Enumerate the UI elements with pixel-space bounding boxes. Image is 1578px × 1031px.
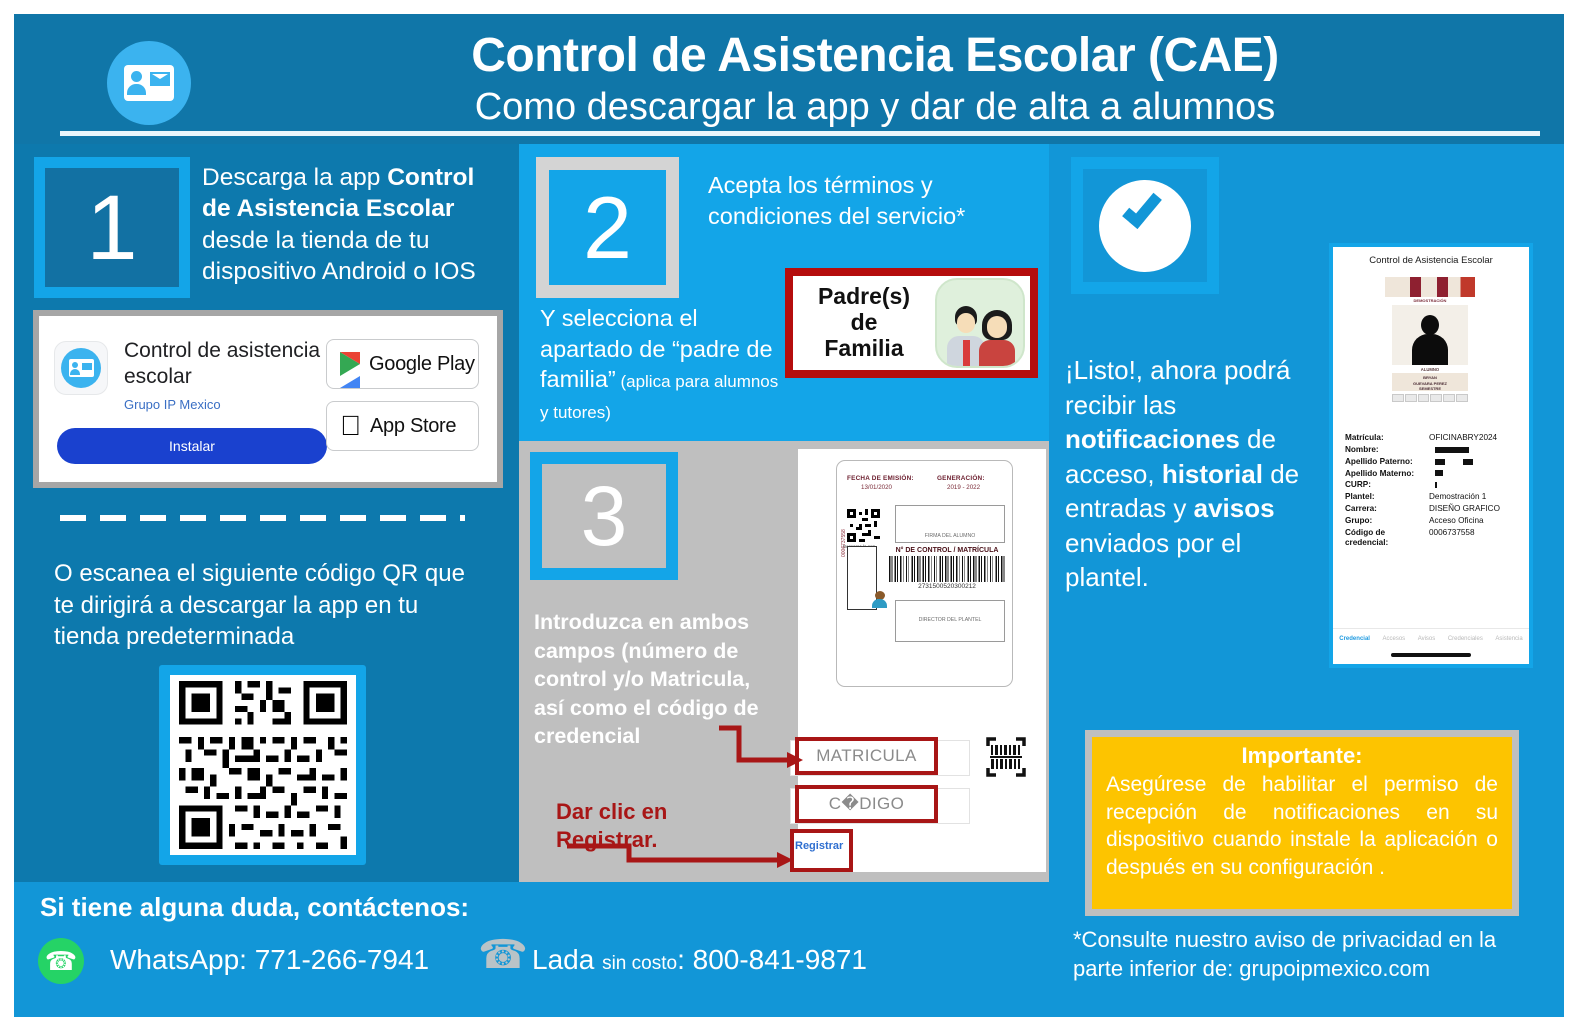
credential-row-value: Acceso Oficina — [1429, 516, 1525, 526]
credential-row-key: Nombre: — [1345, 445, 1429, 455]
credential-row: Carrera:DISEÑO GRAFICO — [1345, 504, 1525, 514]
app-name: Control de asistencia escolar — [124, 338, 324, 391]
credential-row: Grupo:Acceso Oficina — [1345, 516, 1525, 526]
id-barcode — [889, 556, 1005, 582]
credential-tab-accesos[interactable]: Accesos — [1382, 636, 1405, 642]
step-1-number: 1 — [86, 182, 137, 274]
credential-row-key: Apellido Materno: — [1345, 469, 1429, 479]
credential-row-key: CURP: — [1345, 480, 1429, 490]
qr-code-frame — [159, 665, 366, 865]
parents-avatar-icon — [935, 278, 1025, 368]
step-1-text-a: Descarga la app — [202, 164, 387, 191]
google-play-button[interactable]: Google Play — [326, 339, 479, 389]
id-generacion-label: GENERACIÓN: — [937, 475, 985, 482]
padre-de-familia-label: Padre(s) de Familia — [793, 284, 935, 361]
phone-icon: ☎ — [478, 935, 528, 975]
credential-screen-mock: Control de Asistencia Escolar DEMOSTRACI… — [1329, 243, 1533, 668]
privacy-note: *Consulte nuestro aviso de privacidad en… — [1073, 925, 1533, 983]
padre-line-2: de — [793, 310, 935, 336]
install-button[interactable]: Instalar — [57, 428, 327, 464]
id-card-mail-icon — [107, 41, 191, 125]
credential-row-value: OFICINABRY2024 — [1429, 433, 1525, 443]
id-director-label: DIRECTOR DEL PLANTEL — [896, 617, 1004, 623]
credential-name-block: BRYAN GUEVARA PEREZ SEMESTRE — [1392, 373, 1468, 391]
id-emision-value: 13/01/2020 — [861, 484, 892, 491]
credential-row-value — [1429, 457, 1525, 467]
google-play-label: Google Play — [369, 353, 475, 376]
credential-alumno-label: ALUMNO — [1385, 367, 1475, 372]
credential-row: Matrícula:OFICINABRY2024 — [1345, 433, 1525, 443]
credential-row-value — [1429, 480, 1525, 490]
apple-icon:  — [340, 412, 361, 440]
padre-line-1: Padre(s) — [793, 284, 935, 310]
id-emision-label: FECHA DE EMISIÓN: — [847, 475, 914, 482]
dashed-divider — [60, 515, 465, 521]
credential-row-value — [1429, 469, 1525, 479]
step-4-badge — [1071, 157, 1219, 294]
check-circle-icon — [1099, 180, 1191, 272]
important-box: Importante: Asegúrese de habilitar el pe… — [1085, 730, 1519, 916]
id-firma-label: FIRMA DEL ALUMNO — [896, 533, 1004, 539]
credential-semester-grid — [1392, 394, 1468, 402]
contact-question: Si tiene alguna duda, contáctenos: — [40, 892, 469, 923]
page-subtitle: Como descargar la app y dar de alta a al… — [230, 86, 1520, 129]
credential-row-value: Demostración 1 — [1429, 492, 1525, 502]
credential-details-list: Matrícula:OFICINABRY2024Nombre:Apellido … — [1345, 433, 1525, 550]
credential-tab-credencial[interactable]: Credencial — [1339, 636, 1370, 642]
credential-row: Código de credencial:0006737558 — [1345, 528, 1525, 549]
credential-app-title: Control de Asistencia Escolar — [1333, 255, 1529, 266]
app-thumbnail-icon — [54, 341, 108, 395]
lada-small: sin costo — [602, 953, 677, 974]
step-4-b2: historial — [1162, 459, 1263, 489]
step-1-badge: 1 — [34, 157, 190, 298]
id-control-label: N° DE CONTROL / MATRÍCULA — [887, 547, 1007, 554]
padre-de-familia-card[interactable]: Padre(s) de Familia — [785, 268, 1038, 378]
credential-row-key: Matrícula: — [1345, 433, 1429, 443]
step-2-number: 2 — [583, 184, 632, 272]
credential-row-key: Apellido Paterno: — [1345, 457, 1429, 467]
qr-svg — [170, 675, 356, 855]
id-student-avatar — [871, 591, 888, 608]
credential-row-key: Carrera: — [1345, 504, 1429, 514]
step-2-badge: 2 — [536, 157, 679, 298]
credential-tab-credenciales[interactable]: Credenciales — [1448, 636, 1483, 642]
header-divider — [60, 131, 1540, 136]
step-4-b1: notificaciones — [1065, 424, 1240, 454]
id-vertical-code: 0006737558 — [841, 529, 847, 557]
credential-row-key: Código de credencial: — [1345, 528, 1429, 549]
id-control-number: 2731500520300212 — [887, 583, 1007, 590]
credential-row-key: Grupo: — [1345, 516, 1429, 526]
step-3-badge: 3 — [530, 452, 678, 580]
lada-value: : 800-841-9871 — [677, 944, 867, 975]
step-4-d: enviados por el plantel. — [1065, 528, 1241, 593]
credential-name-3: SEMESTRE — [1392, 386, 1468, 392]
credential-row-key: Plantel: — [1345, 492, 1429, 502]
qr-instructions: O escanea el siguiente código QR que te … — [54, 558, 484, 653]
credential-row: Apellido Paterno: — [1345, 457, 1525, 467]
step3-arrows — [519, 700, 1049, 880]
id-generacion-value: 2019 - 2022 — [947, 484, 980, 491]
credential-tab-asistencia[interactable]: Asistencia — [1495, 636, 1522, 642]
step-1-text: Descarga la app Control de Asistencia Es… — [202, 162, 502, 287]
app-store-button[interactable]:  App Store — [326, 401, 479, 451]
page-title: Control de Asistencia Escolar (CAE) — [230, 28, 1520, 83]
credential-row: Nombre: — [1345, 445, 1525, 455]
lada-number: Lada sin costo: 800-841-9871 — [532, 944, 867, 976]
step-4-text: ¡Listo!, ahora podrá recibir las notific… — [1065, 353, 1320, 595]
student-id-card: FECHA DE EMISIÓN: 13/01/2020 GENERACIÓN:… — [836, 460, 1013, 687]
app-developer: Grupo IP Mexico — [124, 397, 221, 412]
step-2-text-bottom: Y selecciona el apartado de “padre de fa… — [540, 303, 790, 425]
important-body: Asegúrese de habilitar el permiso de rec… — [1106, 771, 1498, 881]
credential-row: CURP: — [1345, 480, 1525, 490]
qr-code-image — [170, 675, 356, 855]
whatsapp-icon[interactable]: ☎ — [38, 938, 84, 984]
home-indicator — [1391, 653, 1471, 657]
credential-row-value — [1429, 445, 1525, 455]
credential-top-label: DEMOSTRACIÓN — [1385, 298, 1475, 303]
google-play-icon — [340, 352, 360, 376]
step-1-text-b: desde la tienda de tu dispositivo Androi… — [202, 227, 476, 285]
step-4-a: ¡Listo!, ahora podrá recibir las — [1065, 355, 1290, 420]
id-director-box: DIRECTOR DEL PLANTEL — [895, 600, 1005, 642]
credential-tabbar: CredencialAccesosAvisosCredencialesAsist… — [1333, 628, 1529, 642]
credential-row-value: DISEÑO GRAFICO — [1429, 504, 1525, 514]
credential-row: Apellido Materno: — [1345, 469, 1525, 479]
step-4-b3: avisos — [1194, 493, 1275, 523]
id-card-qr-icon — [847, 509, 880, 542]
id-signature-box: FIRMA DEL ALUMNO — [895, 505, 1005, 543]
infographic-page: Control de Asistencia Escolar (CAE) Como… — [0, 0, 1578, 1031]
app-store-card: Control de asistencia escolar Grupo IP M… — [33, 310, 503, 488]
step-2-text-top: Acepta los términos y condiciones del se… — [708, 170, 1038, 231]
whatsapp-number: WhatsApp: 771-266-7941 — [110, 944, 429, 976]
padre-line-3: Familia — [793, 336, 935, 362]
lada-prefix: Lada — [532, 944, 602, 975]
step-3-number: 3 — [581, 474, 628, 558]
credential-tab-avisos[interactable]: Avisos — [1418, 636, 1436, 642]
credential-row-value: 0006737558 — [1429, 528, 1525, 549]
credential-image: DEMOSTRACIÓN ALUMNO BRYAN GUEVARA PEREZ … — [1385, 277, 1475, 412]
important-title: Importante: — [1106, 743, 1498, 769]
app-store-label: App Store — [370, 415, 456, 438]
credential-row: Plantel:Demostración 1 — [1345, 492, 1525, 502]
